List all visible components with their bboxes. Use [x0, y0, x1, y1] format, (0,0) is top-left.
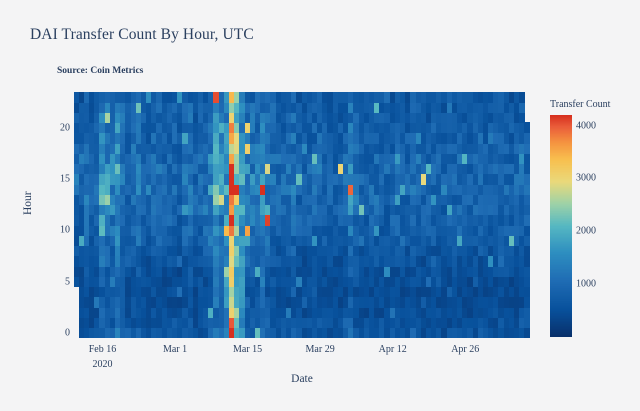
x-tick-label-4: Apr 12 — [379, 344, 407, 355]
x-tick-label-1: Mar 1 — [163, 344, 187, 355]
colorbar-tick-1000: 1000 — [576, 279, 596, 290]
x-tick-label-5: Apr 26 — [451, 344, 479, 355]
y-tick-label-0: 0 — [65, 327, 70, 338]
y-axis-title: Hour — [22, 191, 34, 215]
heatmap-cells[interactable] — [74, 92, 530, 338]
y-tick-label-20: 20 — [60, 122, 70, 133]
colorbar-tick-4000: 4000 — [576, 120, 596, 131]
heatmap-plot-area[interactable] — [74, 92, 530, 338]
colorbar[interactable] — [550, 115, 572, 337]
y-tick-label-5: 5 — [65, 276, 70, 287]
colorbar-tick-labels: 4000300020001000 — [576, 115, 636, 337]
colorbar-tick-3000: 3000 — [576, 173, 596, 184]
colorbar-tick-2000: 2000 — [576, 226, 596, 237]
colorbar-gradient — [550, 115, 572, 337]
x-tick-label-0: Feb 16 — [89, 344, 117, 355]
x-tick-label-3: Mar 29 — [306, 344, 335, 355]
x-tick-sublabel-0: 2020 — [93, 359, 113, 370]
x-axis-title: Date — [291, 373, 313, 385]
y-tick-label-15: 15 — [60, 174, 70, 185]
y-tick-label-10: 10 — [60, 225, 70, 236]
x-axis-ticks: Feb 162020Mar 1Mar 15Mar 29Apr 12Apr 26 — [0, 344, 640, 384]
x-tick-label-2: Mar 15 — [233, 344, 262, 355]
chart-figure: DAI Transfer Count By Hour, UTC Source: … — [0, 0, 640, 411]
colorbar-title: Transfer Count — [550, 99, 610, 110]
